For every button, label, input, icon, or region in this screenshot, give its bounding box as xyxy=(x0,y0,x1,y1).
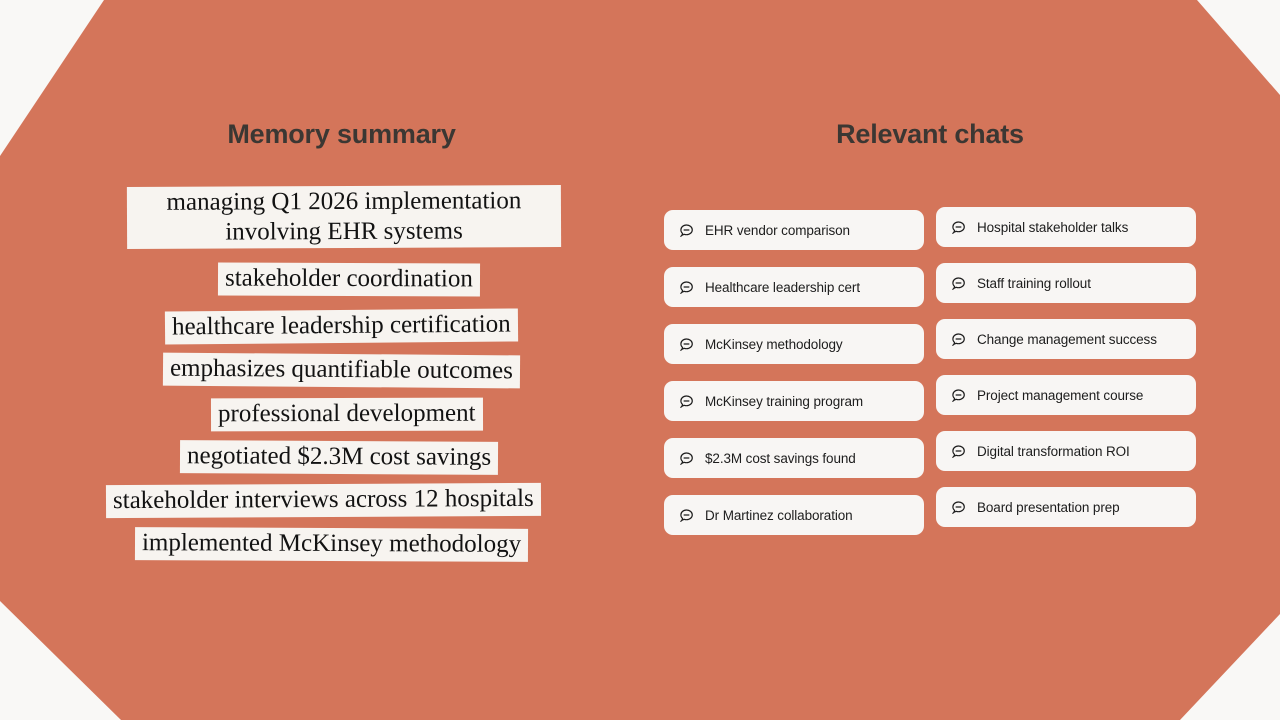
memory-phrase-text: implemented McKinsey methodology xyxy=(135,527,528,561)
memory-phrase-item: professional development xyxy=(203,387,483,431)
chat-bubble-icon xyxy=(678,507,695,524)
chat-card-label: $2.3M cost savings found xyxy=(705,451,856,466)
chat-card-label: Staff training rollout xyxy=(977,276,1091,291)
memory-phrase-text: negotiated $2.3M cost savings xyxy=(180,440,498,474)
chat-bubble-icon xyxy=(950,387,967,404)
memory-summary-phrase-list: managing Q1 2026 implementation involvin… xyxy=(60,186,625,561)
relevant-chats-heading: Relevant chats xyxy=(660,119,1200,150)
chat-card-label: Dr Martinez collaboration xyxy=(705,508,853,523)
memory-phrase-text: stakeholder interviews across 12 hospita… xyxy=(106,482,541,517)
chat-card-label: Digital transformation ROI xyxy=(977,444,1130,459)
memory-summary-heading: Memory summary xyxy=(0,119,683,150)
chat-card[interactable]: McKinsey training program xyxy=(664,381,924,421)
chat-bubble-icon xyxy=(678,222,695,239)
chat-card[interactable]: Staff training rollout xyxy=(936,263,1196,303)
chat-card[interactable]: Healthcare leadership cert xyxy=(664,267,924,307)
chat-card-label: Healthcare leadership cert xyxy=(705,280,860,295)
memory-phrase-text: stakeholder coordination xyxy=(218,263,480,296)
relevant-chats-grid: EHR vendor comparison Healthcare leaders… xyxy=(664,210,1196,552)
chat-card[interactable]: Digital transformation ROI xyxy=(936,431,1196,471)
memory-phrase-item: implemented McKinsey methodology xyxy=(157,516,528,561)
chat-bubble-icon xyxy=(678,336,695,353)
chat-bubble-icon xyxy=(678,279,695,296)
memory-phrase-item: negotiated $2.3M cost savings xyxy=(186,430,498,474)
chat-card-label: McKinsey methodology xyxy=(705,337,843,352)
slide-root: Memory summary managing Q1 2026 implemen… xyxy=(0,0,1280,720)
chat-bubble-icon xyxy=(950,499,967,516)
memory-phrase-text: healthcare leadership certification xyxy=(165,308,518,344)
memory-phrase-item: healthcare leadership certification xyxy=(167,296,518,343)
chat-card[interactable]: Dr Martinez collaboration xyxy=(664,495,924,535)
chat-card-label: Hospital stakeholder talks xyxy=(977,220,1128,235)
memory-phrase-text: emphasizes quantifiable outcomes xyxy=(163,353,520,388)
chat-card[interactable]: EHR vendor comparison xyxy=(664,210,924,250)
chat-card[interactable]: Project management course xyxy=(936,375,1196,415)
memory-phrase-text: managing Q1 2026 implementation involvin… xyxy=(126,185,560,249)
memory-phrase-item: emphasizes quantifiable outcomes xyxy=(165,342,520,387)
memory-phrase-item: managing Q1 2026 implementation involvin… xyxy=(125,186,561,248)
chat-card[interactable]: Hospital stakeholder talks xyxy=(936,207,1196,247)
chat-card[interactable]: Change management success xyxy=(936,319,1196,359)
chat-card[interactable]: McKinsey methodology xyxy=(664,324,924,364)
chat-bubble-icon xyxy=(950,443,967,460)
chat-card[interactable]: $2.3M cost savings found xyxy=(664,438,924,478)
memory-phrase-text: professional development xyxy=(211,397,483,430)
chat-card-label: Change management success xyxy=(977,332,1157,347)
memory-phrase-item: stakeholder interviews across 12 hospita… xyxy=(144,474,541,517)
chat-bubble-icon xyxy=(950,331,967,348)
chat-card-label: Board presentation prep xyxy=(977,500,1120,515)
chat-bubble-icon xyxy=(950,275,967,292)
chat-card-label: McKinsey training program xyxy=(705,394,863,409)
memory-phrase-item: stakeholder coordination xyxy=(206,248,480,296)
chats-right-column: Hospital stakeholder talks Staff trainin… xyxy=(936,207,1196,552)
chat-bubble-icon xyxy=(678,393,695,410)
chat-bubble-icon xyxy=(950,219,967,236)
chat-bubble-icon xyxy=(678,450,695,467)
chats-left-column: EHR vendor comparison Healthcare leaders… xyxy=(664,210,924,552)
chat-card-label: EHR vendor comparison xyxy=(705,223,850,238)
chat-card-label: Project management course xyxy=(977,388,1143,403)
chat-card[interactable]: Board presentation prep xyxy=(936,487,1196,527)
